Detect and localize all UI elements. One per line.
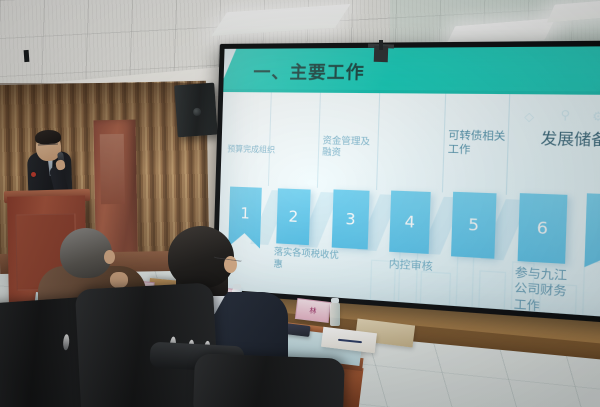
attendee-left-hand [110, 272, 128, 288]
projection-screen[interactable]: 一、主要工作 青岛惠城环保科技股份有限 ◇ ⚲ ⚙ [212, 40, 600, 325]
column-separator [268, 92, 272, 186]
step-box-4[interactable]: 4 [389, 191, 431, 254]
wall-speaker-icon [174, 83, 218, 138]
step-number-5: 5 [468, 215, 480, 235]
step-box-6[interactable]: 6 [518, 193, 568, 264]
step-label-bottom-6: 参与九江公司财务工作 [514, 265, 573, 316]
water-bottle [330, 302, 340, 326]
name-card: 林 [295, 298, 331, 323]
projector-mount-arm [379, 40, 383, 50]
slide-title: 一、主要工作 [253, 57, 365, 83]
slide-body: ◇ ⚲ ⚙ [217, 92, 600, 319]
wood-panel-inset [100, 134, 125, 204]
step-number-4: 4 [404, 212, 415, 232]
bottle-cap [233, 284, 241, 289]
chair[interactable] [193, 353, 345, 407]
step-number-2: 2 [288, 207, 298, 226]
watermark-icon: ⚙ [592, 109, 600, 124]
conference-room-photo: 一、主要工作 青岛惠城环保科技股份有限 ◇ ⚲ ⚙ [0, 0, 600, 407]
speaker-cone [193, 108, 202, 117]
presenter-glasses-icon [38, 143, 58, 149]
bottle-cap [331, 298, 339, 303]
step-box-1[interactable]: 1 [228, 187, 262, 249]
slide-surface: 一、主要工作 青岛惠城环保科技股份有限 ◇ ⚲ ⚙ [217, 46, 600, 319]
step-box-5[interactable]: 5 [451, 192, 497, 259]
step-label-top-3: 资金管理及融资 [322, 136, 378, 161]
speaker-bracket [24, 50, 30, 62]
chair-highlight [63, 334, 70, 350]
attendee-left-ear [104, 250, 115, 264]
watermark-icon: ⚲ [560, 108, 570, 123]
watermark-icon: ◇ [524, 110, 534, 124]
step-box-3[interactable]: 3 [332, 189, 370, 249]
step-label-top-1: 预算完成组织 [227, 144, 285, 156]
column-separator [317, 93, 321, 188]
presenter-badge [31, 172, 36, 177]
presenter-hair [35, 129, 62, 144]
step-number-1: 1 [240, 204, 250, 223]
step-label-top-8: 发展储备人员 [540, 128, 600, 153]
step-box-2[interactable]: 2 [276, 188, 310, 245]
step-label-bottom-2: 落实各项税收优惠 [273, 247, 342, 275]
step-number-6: 6 [536, 218, 548, 238]
step-number-3: 3 [345, 210, 356, 229]
step-arrow-8[interactable] [584, 193, 600, 273]
step-label-top-5: 可转债相关工作 [448, 130, 515, 159]
column-separator [442, 94, 446, 193]
